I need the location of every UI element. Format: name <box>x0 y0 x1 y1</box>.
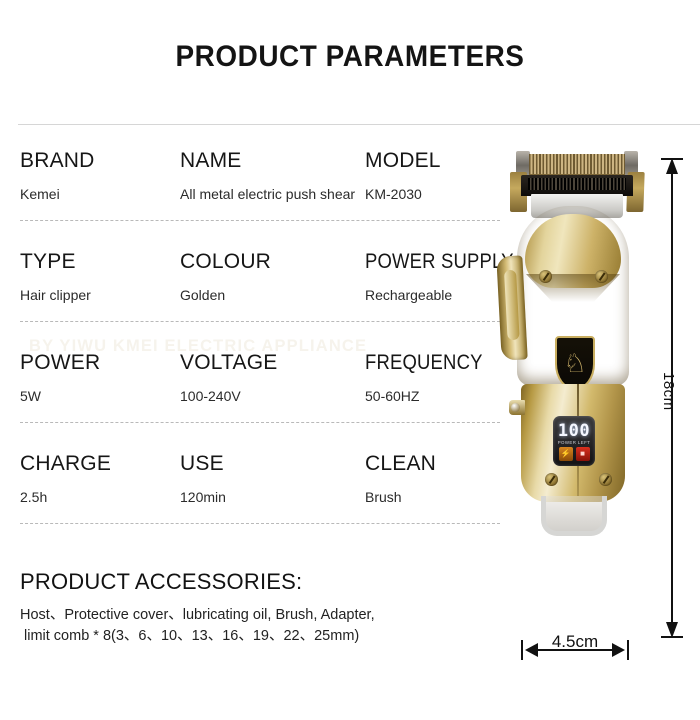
spec-cell-frequency: FREQUENCY 50-60HZ <box>365 350 510 405</box>
arrow-right-icon <box>612 643 625 657</box>
blade-dark-band <box>521 175 633 196</box>
dimension-line <box>531 649 619 651</box>
spec-key: VOLTAGE <box>180 350 370 376</box>
spec-cell-use: USE 120min <box>180 451 370 506</box>
product-parameters-page: PRODUCT PARAMETERS BRAND Kemei NAME All … <box>0 0 700 720</box>
dimension-label-height: 18cm <box>660 372 677 411</box>
spec-key: POWER SUPPLY <box>365 249 493 275</box>
spec-cell-name: NAME All metal electric push shear <box>180 148 370 203</box>
row-divider <box>20 523 500 524</box>
accessories-section: PRODUCT ACCESSORIES: Host、Protective cov… <box>20 568 520 647</box>
dimension-cap-right <box>627 640 629 660</box>
spec-key: USE <box>180 451 370 477</box>
spec-value: Hair clipper <box>20 286 185 304</box>
spec-value: 50-60HZ <box>365 387 510 405</box>
spec-row: TYPE Hair clipper COLOUR Golden POWER SU… <box>0 249 520 350</box>
spec-value: 120min <box>180 488 370 506</box>
accessories-line-1: Host、Protective cover、lubricating oil, B… <box>20 605 520 626</box>
spec-row: POWER 5W VOLTAGE 100-240V FREQUENCY 50-6… <box>0 350 520 451</box>
spec-value: Kemei <box>20 185 185 203</box>
spec-cell-colour: COLOUR Golden <box>180 249 370 304</box>
dimension-cap-left <box>521 640 523 660</box>
spec-value: Brush <box>365 488 510 506</box>
spec-key: POWER <box>20 350 185 376</box>
spec-key: NAME <box>180 148 370 174</box>
header-divider <box>18 124 700 125</box>
spec-key: CLEAN <box>365 451 510 477</box>
spec-key: CHARGE <box>20 451 185 477</box>
spec-key: TYPE <box>20 249 185 275</box>
accessories-body: Host、Protective cover、lubricating oil, B… <box>20 605 520 647</box>
led-indicator-icons: ⚡ ■ <box>557 447 591 461</box>
accessories-heading: PRODUCT ACCESSORIES: <box>20 568 520 595</box>
spec-key: COLOUR <box>180 249 370 275</box>
spec-cell-power: POWER 5W <box>20 350 185 405</box>
shield-emblem-icon: ♘ <box>555 336 595 390</box>
row-divider <box>20 220 500 221</box>
product-image-hair-clipper: ♘ 100 POWER LEFT ⚡ ■ <box>495 148 660 638</box>
spec-row: CHARGE 2.5h USE 120min CLEAN Brush <box>0 451 520 552</box>
blade-teeth <box>529 154 625 176</box>
spec-cell-clean: CLEAN Brush <box>365 451 510 506</box>
clipper-hang-loop <box>496 255 527 360</box>
dimension-cap-bottom <box>661 636 683 638</box>
charging-indicator-icon: ⚡ <box>559 447 573 461</box>
spec-cell-power-supply: POWER SUPPLY Rechargeable <box>365 249 510 304</box>
spec-value: KM-2030 <box>365 185 510 203</box>
spec-row: BRAND Kemei NAME All metal electric push… <box>0 148 520 249</box>
spec-cell-type: TYPE Hair clipper <box>20 249 185 304</box>
page-title: PRODUCT PARAMETERS <box>25 40 676 74</box>
spec-value: 100-240V <box>180 387 370 405</box>
row-divider <box>20 321 500 322</box>
led-display-value: 100 <box>553 421 595 441</box>
screw-icon <box>595 270 608 283</box>
clipper-side-button <box>509 400 525 415</box>
spec-value: 2.5h <box>20 488 185 506</box>
spec-cell-charge: CHARGE 2.5h <box>20 451 185 506</box>
spec-table: BRAND Kemei NAME All metal electric push… <box>0 148 520 552</box>
screw-icon <box>539 270 552 283</box>
spec-value: 5W <box>20 387 185 405</box>
spec-cell-model: MODEL KM-2030 <box>365 148 510 203</box>
spec-value: Rechargeable <box>365 286 510 304</box>
clipper-base-foot <box>541 496 607 536</box>
spec-key: FREQUENCY <box>365 350 493 376</box>
led-display-sublabel: POWER LEFT <box>553 440 595 445</box>
spec-value: Golden <box>180 286 370 304</box>
spec-value: All metal electric push shear <box>180 185 370 203</box>
battery-indicator-icon: ■ <box>576 447 590 461</box>
screw-icon <box>545 473 558 486</box>
led-battery-display: 100 POWER LEFT ⚡ ■ <box>553 416 595 466</box>
screw-icon <box>599 473 612 486</box>
dimension-arrow-horizontal <box>521 643 629 657</box>
accessories-line-2: limit comb * 8(3、6、10、13、16、19、22、25mm) <box>20 626 520 647</box>
spec-cell-brand: BRAND Kemei <box>20 148 185 203</box>
spec-key: BRAND <box>20 148 185 174</box>
horse-icon: ♘ <box>563 350 586 376</box>
spec-key: MODEL <box>365 148 510 174</box>
row-divider <box>20 422 500 423</box>
spec-cell-voltage: VOLTAGE 100-240V <box>180 350 370 405</box>
